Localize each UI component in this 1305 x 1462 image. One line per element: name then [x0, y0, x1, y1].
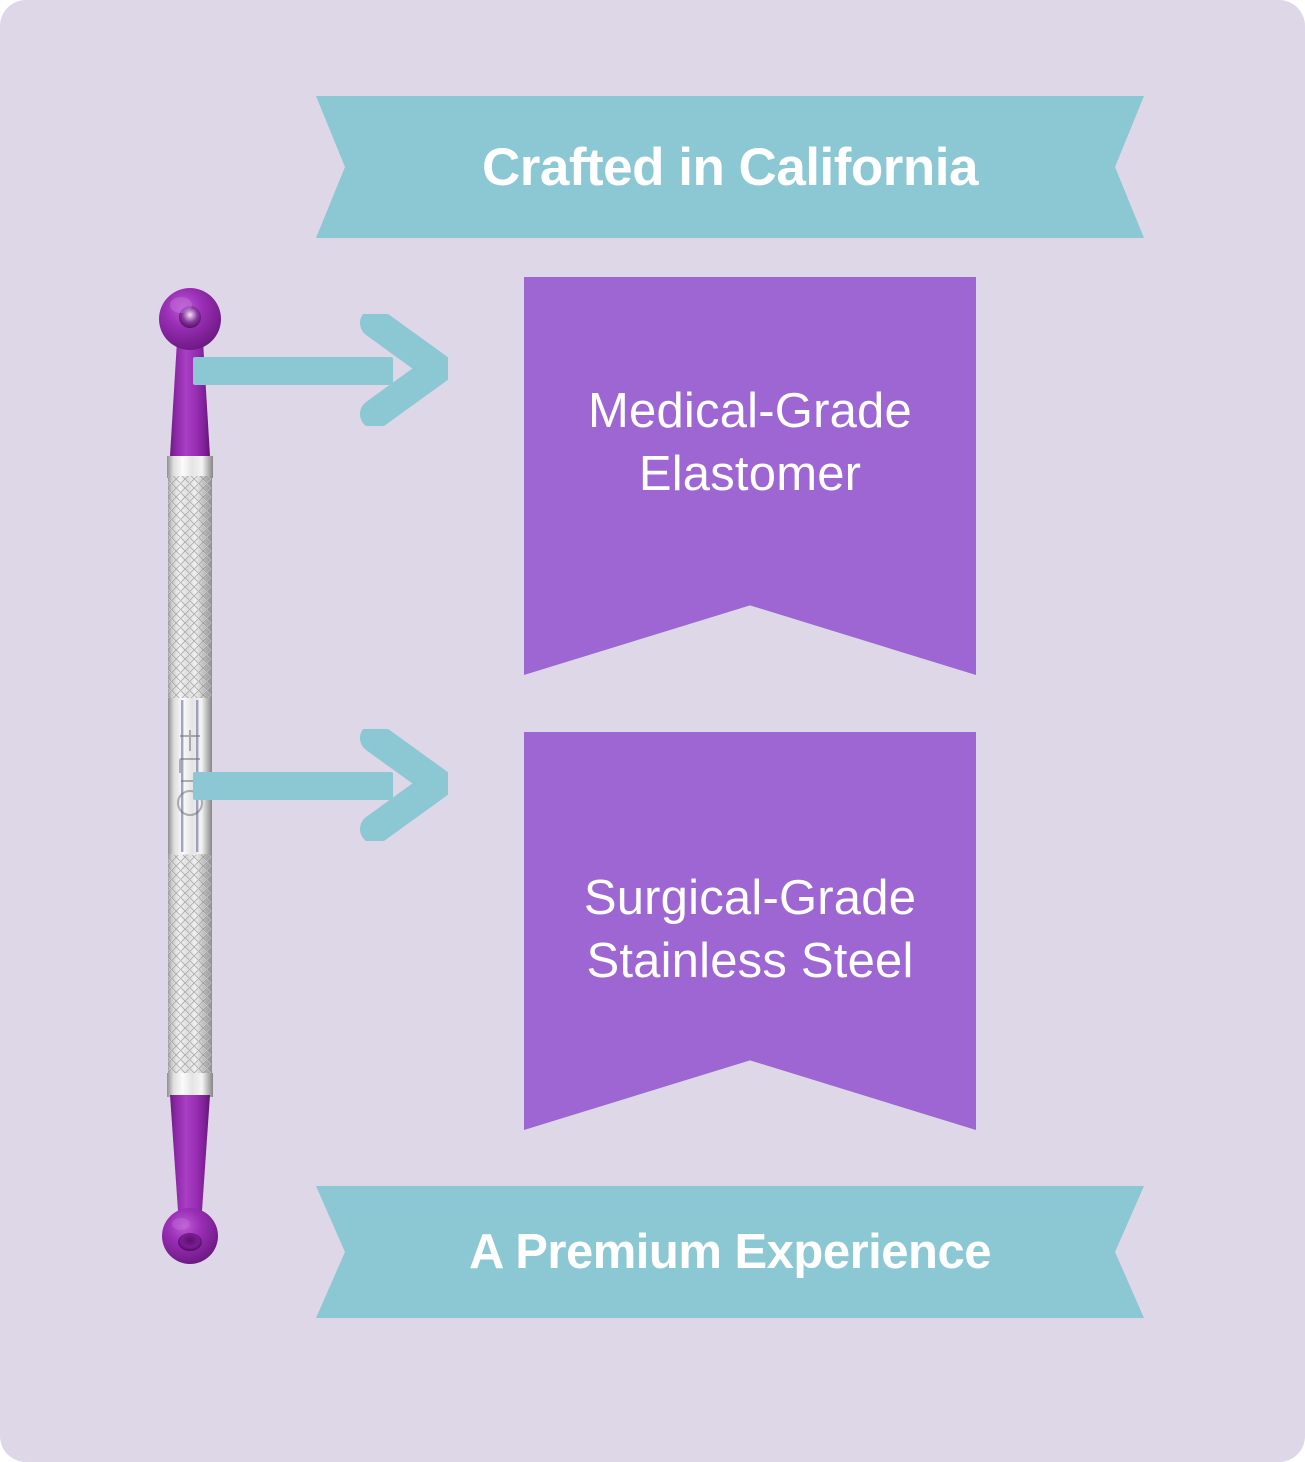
feature-card-2-line1: Surgical-Grade	[524, 867, 976, 930]
feature-card-2-label: Surgical-Grade Stainless Steel	[524, 867, 976, 992]
feature-card-surgical-grade-stainless-steel: Surgical-Grade Stainless Steel	[524, 732, 976, 1130]
banner-top-title: Crafted in California	[482, 137, 978, 198]
tool-collar-upper	[167, 456, 213, 478]
banner-bottom-title: A Premium Experience	[469, 1224, 991, 1280]
feature-card-1-label: Medical-Grade Elastomer	[524, 380, 976, 505]
tool-tip-elastomer-lower	[162, 1095, 218, 1264]
banner-a-premium-experience: A Premium Experience	[316, 1186, 1144, 1318]
arrow-to-elastomer	[193, 314, 448, 426]
feature-card-1-line1: Medical-Grade	[524, 380, 976, 443]
arrow-shaft	[193, 772, 393, 800]
tool-body-steel-lower	[168, 854, 212, 1073]
infographic-canvas: Crafted in California	[0, 0, 1305, 1462]
arrow-to-steel	[193, 729, 448, 841]
tool-body-steel-upper	[168, 476, 212, 698]
arrow-shaft	[193, 357, 393, 385]
tool-collar-lower	[167, 1073, 213, 1097]
banner-crafted-in-california: Crafted in California	[316, 96, 1144, 238]
feature-card-medical-grade-elastomer: Medical-Grade Elastomer	[524, 277, 976, 675]
feature-card-1-line2: Elastomer	[524, 443, 976, 506]
feature-card-2-line2: Stainless Steel	[524, 930, 976, 993]
